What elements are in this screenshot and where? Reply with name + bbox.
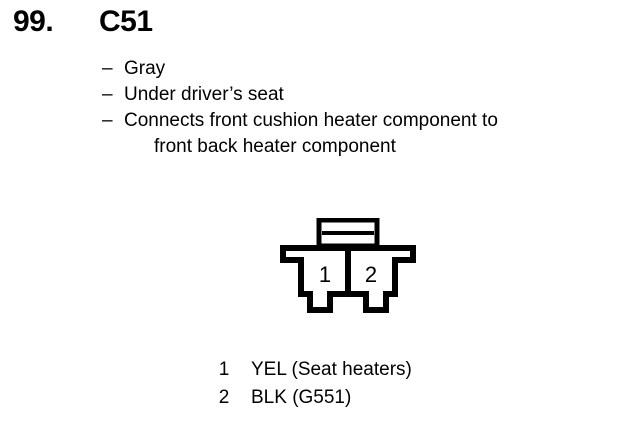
- description-item-function: – Connects front cushion heater componen…: [102, 108, 602, 134]
- connector-outline-icon: 1 2: [278, 218, 423, 318]
- page-header: 99. C51: [0, 4, 640, 44]
- description-item-label: Connects front cushion heater component …: [124, 110, 498, 131]
- connector-cavity-number-1: 1: [319, 262, 331, 287]
- description-item-function-continuation: front back heater component: [102, 134, 602, 160]
- connector-locking-tab: [319, 220, 377, 246]
- pin-legend-description: YEL (Seat heaters): [251, 356, 412, 384]
- description-item-color: – Gray: [102, 56, 602, 82]
- description-item-label: Gray: [124, 58, 165, 79]
- pin-legend-row: 2 BLK (G551): [215, 384, 575, 412]
- connector-description-list: – Gray – Under driver’s seat – Connects …: [102, 56, 602, 160]
- page-title-connector-code: C51: [99, 4, 153, 40]
- pin-legend-number: 2: [215, 384, 233, 412]
- description-item-location: – Under driver’s seat: [102, 82, 602, 108]
- connector-cavity-number-2: 2: [365, 262, 377, 287]
- pin-legend-row: 1 YEL (Seat heaters): [215, 356, 575, 384]
- bullet-dash-icon: –: [102, 56, 113, 82]
- connector-diagram: 1 2: [278, 218, 423, 318]
- bullet-dash-icon: –: [102, 108, 113, 134]
- pin-legend-table: 1 YEL (Seat heaters) 2 BLK (G551): [215, 356, 575, 412]
- pin-legend-description: BLK (G551): [251, 384, 351, 412]
- page-title-number: 99.: [13, 4, 53, 40]
- bullet-dash-icon: –: [102, 82, 113, 108]
- description-item-label: Under driver’s seat: [124, 84, 284, 105]
- pin-legend-number: 1: [215, 356, 233, 384]
